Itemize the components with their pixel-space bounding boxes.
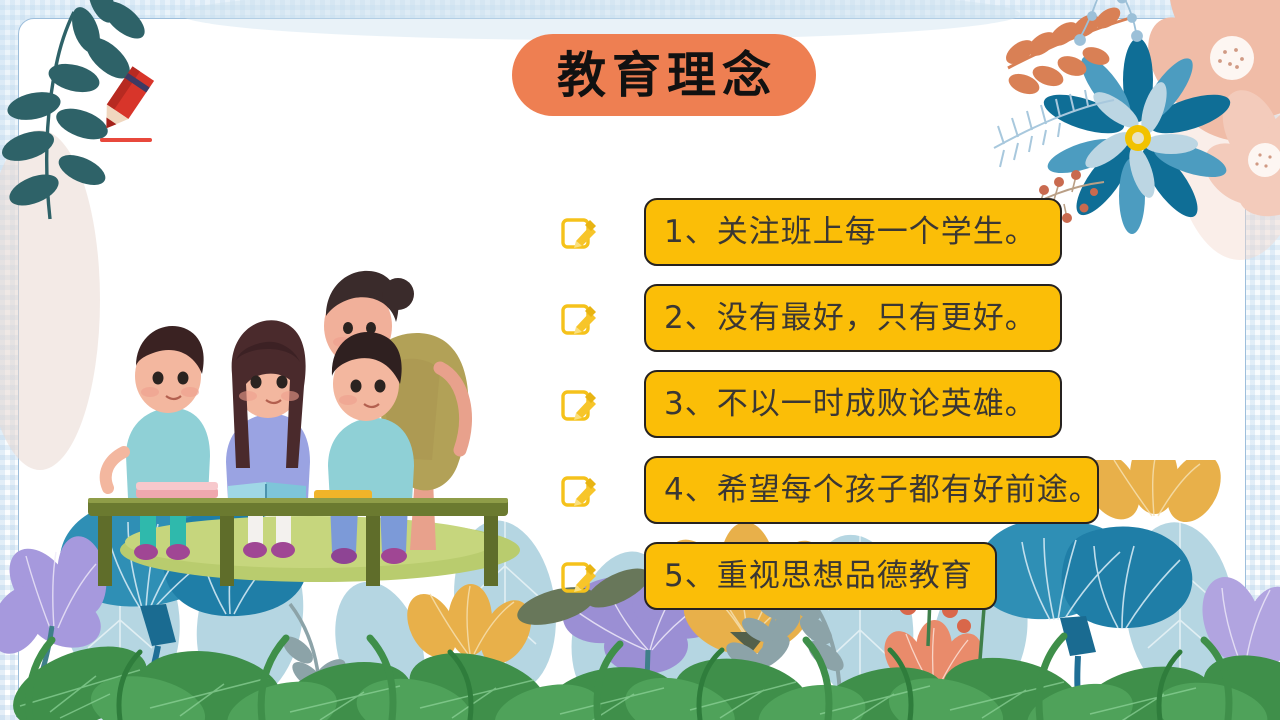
edit-pencil-icon — [560, 470, 600, 510]
principle-text: 5、重视思想品德教育 — [664, 561, 973, 592]
principle-chip[interactable]: 2、没有最好，只有更好。 — [644, 284, 1062, 352]
slide-root: 教育理念 — [0, 0, 1280, 720]
principle-text: 1、关注班上每一个学生。 — [664, 217, 1037, 248]
principle-text: 2、没有最好，只有更好。 — [664, 303, 1037, 334]
list-item[interactable]: 4、希望每个孩子都有好前途。 — [560, 456, 1099, 524]
edit-pencil-icon — [560, 212, 600, 252]
list-item[interactable]: 5、重视思想品德教育 — [560, 542, 1099, 610]
principle-chip[interactable]: 4、希望每个孩子都有好前途。 — [644, 456, 1099, 524]
list-item[interactable]: 1、关注班上每一个学生。 — [560, 198, 1099, 266]
principle-chip[interactable]: 1、关注班上每一个学生。 — [644, 198, 1062, 266]
slide-title-pill: 教育理念 — [512, 34, 816, 116]
edit-pencil-icon — [560, 298, 600, 338]
principle-text: 4、希望每个孩子都有好前途。 — [664, 475, 1101, 506]
teacher-and-students-illustration — [80, 250, 550, 590]
list-item[interactable]: 2、没有最好，只有更好。 — [560, 284, 1099, 352]
principle-text: 3、不以一时成败论英雄。 — [664, 389, 1037, 420]
page-title: 教育理念 — [551, 51, 777, 100]
list-item[interactable]: 3、不以一时成败论英雄。 — [560, 370, 1099, 438]
principle-chip[interactable]: 3、不以一时成败论英雄。 — [644, 370, 1062, 438]
edit-pencil-icon — [560, 384, 600, 424]
principles-list: 1、关注班上每一个学生。 2、没有最好，只有更好。 — [560, 198, 1099, 628]
edit-pencil-icon — [560, 556, 600, 596]
principle-chip[interactable]: 5、重视思想品德教育 — [644, 542, 997, 610]
